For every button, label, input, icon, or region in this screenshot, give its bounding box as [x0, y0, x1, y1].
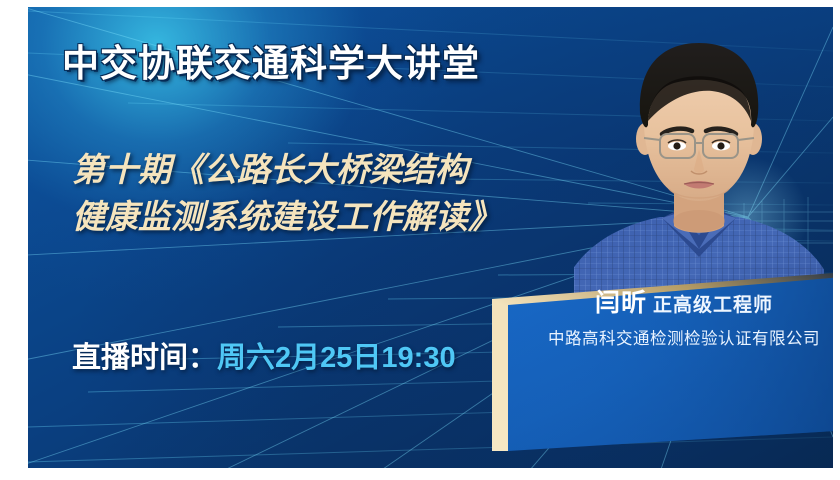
live-time-row: 直播时间：周六2月25日19:30	[72, 334, 456, 376]
poster-frame: 中交协联交通科学大讲堂 第十期《公路长大桥梁结构 健康监测系统建设工作解读》 直…	[0, 0, 840, 480]
speaker-card: 闫昕正高级工程师 中路高科交通检测检验认证有限公司	[488, 265, 833, 465]
episode-subtitle: 第十期《公路长大桥梁结构 健康监测系统建设工作解读》	[72, 147, 612, 241]
poster-stage: 中交协联交通科学大讲堂 第十期《公路长大桥梁结构 健康监测系统建设工作解读》 直…	[28, 7, 833, 468]
live-time-label: 直播时间：	[72, 342, 217, 374]
live-time-value: 周六2月25日19:30	[217, 342, 456, 374]
page-title: 中交协联交通科学大讲堂	[62, 33, 480, 87]
